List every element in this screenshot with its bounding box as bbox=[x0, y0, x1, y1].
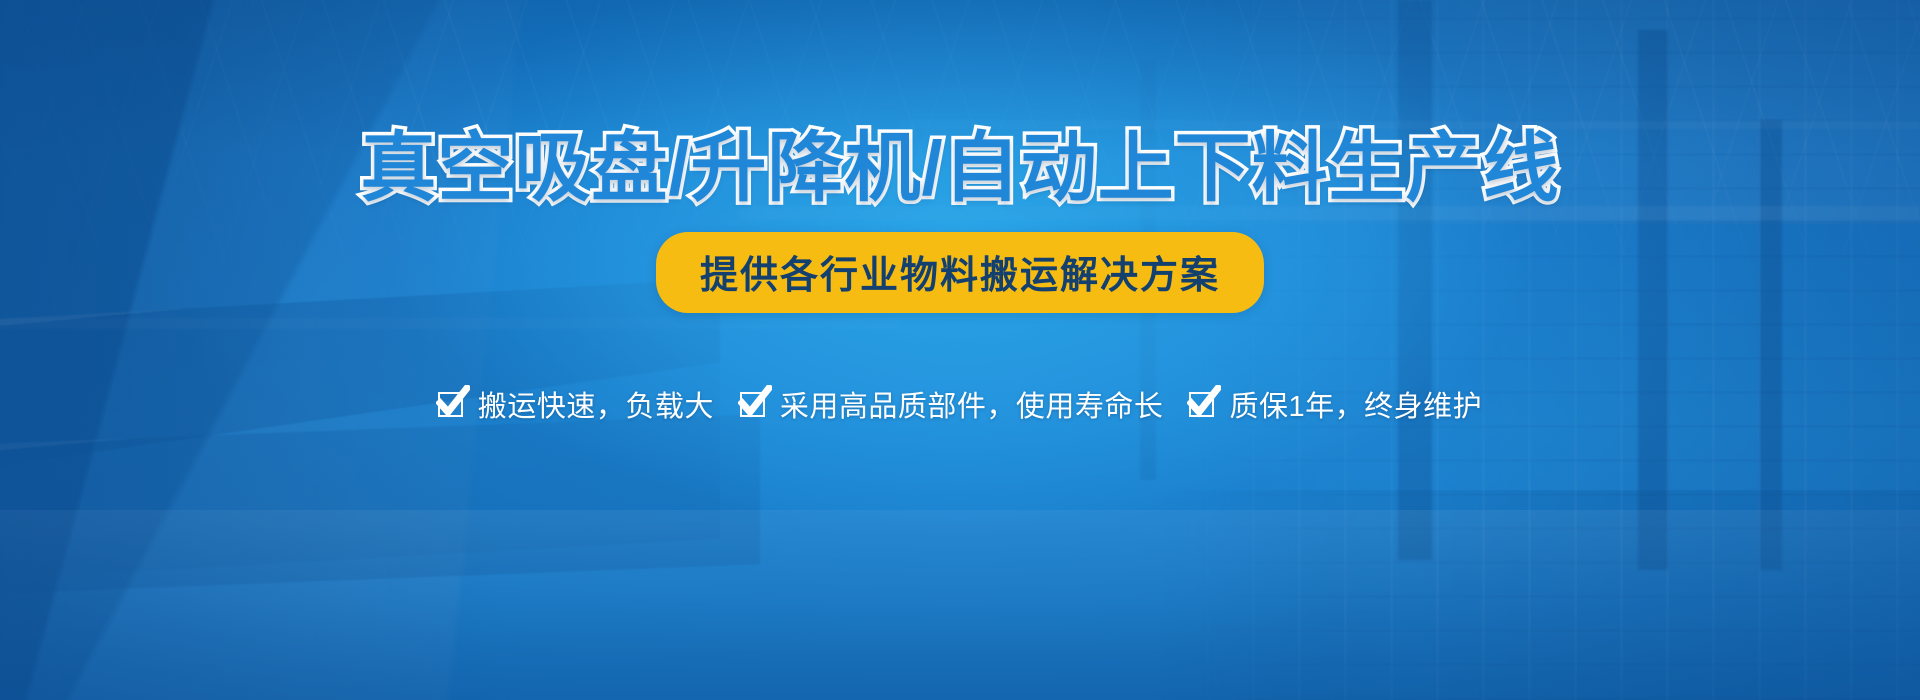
check-square-icon bbox=[740, 389, 770, 419]
feature-label-2: 采用高品质部件，使用寿命长 bbox=[780, 383, 1164, 425]
check-square-icon bbox=[438, 389, 468, 419]
feature-list: 搬运快速，负载大 采用高品质部件，使用寿命长 质保1 bbox=[438, 383, 1482, 425]
feature-label-1: 搬运快速，负载大 bbox=[478, 383, 714, 425]
feature-item-3: 质保1年，终身维护 bbox=[1189, 383, 1482, 425]
hero-banner: 真空吸盘/升降机/自动上下料生产线 提供各行业物料搬运解决方案 搬运快速，负载大 bbox=[0, 0, 1920, 700]
check-square-icon bbox=[1189, 389, 1219, 419]
banner-content: 真空吸盘/升降机/自动上下料生产线 提供各行业物料搬运解决方案 搬运快速，负载大 bbox=[0, 0, 1920, 700]
banner-subtitle-badge: 提供各行业物料搬运解决方案 bbox=[656, 232, 1264, 313]
banner-headline: 真空吸盘/升降机/自动上下料生产线 bbox=[360, 128, 1559, 210]
feature-item-1: 搬运快速，负载大 bbox=[438, 383, 714, 425]
feature-item-2: 采用高品质部件，使用寿命长 bbox=[740, 383, 1164, 425]
feature-label-3: 质保1年，终身维护 bbox=[1229, 383, 1482, 425]
